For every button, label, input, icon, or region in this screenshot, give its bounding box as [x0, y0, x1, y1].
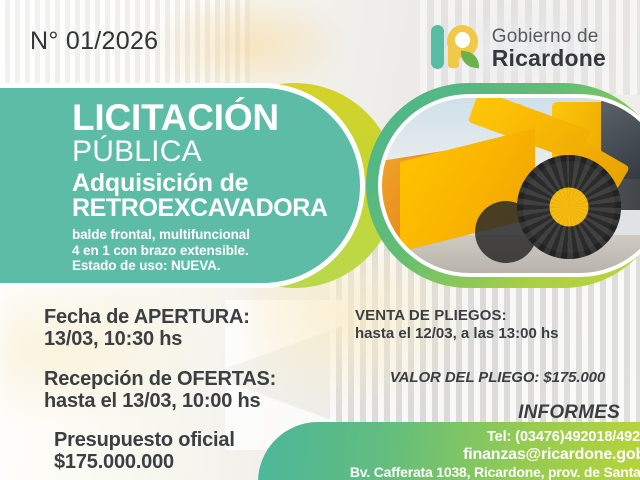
venta-pliegos-block: VENTA DE PLIEGOS: hasta el 12/03, a las … — [355, 307, 640, 343]
banner-details: balde frontal, multifuncional 4 en 1 con… — [72, 227, 372, 275]
apertura-block: Fecha de APERTURA: 13/03, 10:30 hs — [44, 306, 334, 351]
logo-bar-shape — [431, 25, 444, 69]
licitacion-poster: N° 01/2026 Gobierno de Ricardone — [0, 0, 640, 480]
contact-address: Bv. Cafferata 1038, Ricardone, prov. de … — [350, 464, 640, 480]
contact-footer: Tel: (03476)492018/492208 finanzas@ricar… — [258, 422, 640, 480]
leaf-icon — [459, 51, 481, 69]
excavator-photo — [382, 98, 640, 273]
contact-details: Tel: (03476)492018/492208 finanzas@ricar… — [350, 429, 640, 480]
logo-line-1: Gobierno de — [492, 27, 606, 46]
contact-phone[interactable]: Tel: (03476)492018/492208 — [350, 429, 640, 446]
banner-subtitle: Adquisición de — [72, 170, 372, 196]
logo-wordmark: Gobierno de Ricardone — [492, 27, 606, 70]
contact-email[interactable]: finanzas@ricardone.gob.ar — [350, 446, 640, 465]
ofertas-label: Recepción de OFERTAS: — [44, 368, 334, 390]
banner-detail-2: 4 en 1 con brazo extensible. — [72, 243, 372, 259]
banner-detail-3: Estado de uso: NUEVA. — [72, 258, 372, 274]
government-logo: Gobierno de Ricardone — [429, 22, 606, 74]
ofertas-block: Recepción de OFERTAS: hasta el 13/03, 10… — [44, 368, 334, 413]
apertura-label: Fecha de APERTURA: — [44, 306, 334, 328]
venta-label: VENTA DE PLIEGOS: — [355, 307, 640, 325]
banner-content: LICITACIÓN PÚBLICA Adquisición de RETROE… — [72, 100, 372, 274]
informes-label: INFORMES — [355, 402, 640, 424]
logo-line-2: Ricardone — [492, 47, 606, 70]
logo-r-counter — [455, 32, 470, 48]
banner-detail-1: balde frontal, multifuncional — [72, 227, 372, 243]
banner-object: RETROEXCAVADORA — [72, 196, 372, 222]
ofertas-value: hasta el 13/03, 10:00 hs — [44, 390, 334, 412]
issue-number: N° 01/2026 — [30, 27, 158, 56]
apertura-value: 13/03, 10:30 hs — [44, 328, 334, 350]
photo-front-tire — [517, 155, 621, 259]
background-blur-top — [150, 0, 350, 100]
venta-value: hasta el 12/03, a las 13:00 hs — [355, 325, 640, 343]
banner-title-licitacion: LICITACIÓN — [72, 100, 372, 136]
ricardone-logo-icon — [429, 22, 483, 74]
valor-pliego: VALOR DEL PLIEGO: $175.000 — [355, 369, 640, 386]
logo-r-leg — [448, 44, 459, 68]
right-info-column: VENTA DE PLIEGOS: hasta el 12/03, a las … — [355, 307, 640, 424]
photo-tire-tread — [517, 155, 621, 259]
banner-title-publica: PÚBLICA — [72, 137, 372, 168]
